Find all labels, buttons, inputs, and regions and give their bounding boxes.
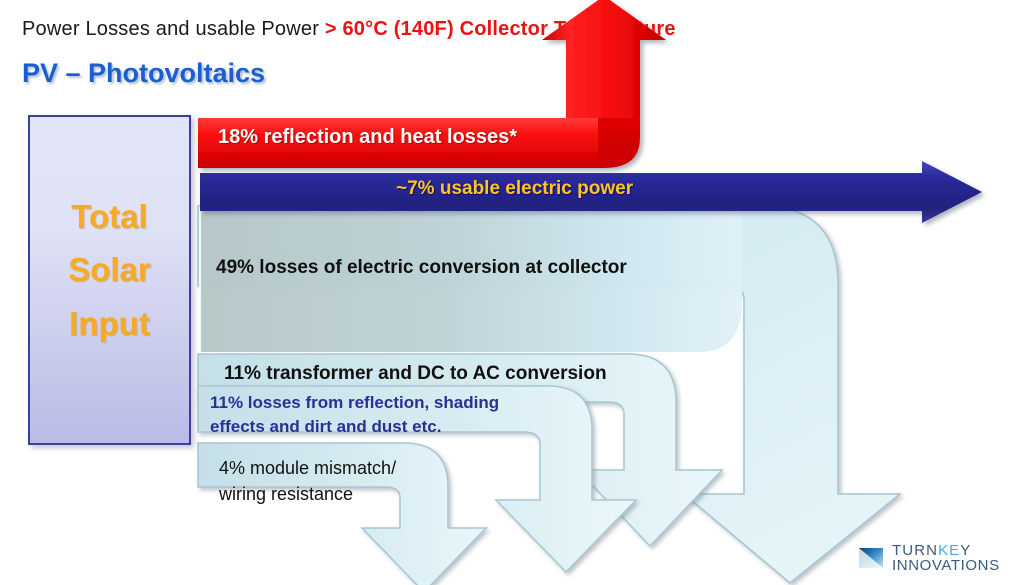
total-solar-input-line1: Total — [28, 190, 191, 243]
label-module-mismatch-line2: wiring resistance — [219, 481, 396, 507]
label-usable-electric-power: ~7% usable electric power — [396, 178, 633, 200]
logo-diamond-icon — [857, 544, 885, 572]
label-reflection-shading-line1: 11% losses from reflection, shading — [210, 391, 499, 415]
total-solar-input-line3: Input — [28, 297, 191, 350]
total-solar-input-line2: Solar — [28, 243, 191, 296]
label-reflection-shading-line2: effects and dirt and dust etc. — [210, 415, 499, 439]
label-transformer-dc-ac: 11% transformer and DC to AC conversion — [224, 363, 607, 385]
label-module-mismatch: 4% module mismatch/ wiring resistance — [219, 455, 396, 507]
logo-wordmark: TURNKEY INNOVATIONS — [892, 543, 1000, 574]
logo-line-2: INNOVATIONS — [892, 558, 1000, 573]
turnkey-innovations-logo: TURNKEY INNOVATIONS — [857, 543, 1000, 574]
logo-line-1: TURNKEY — [892, 543, 1000, 558]
slide-canvas: Power Losses and usable Power > 60°C (14… — [0, 0, 1010, 585]
band-conversion-losses — [200, 207, 742, 352]
label-reflection-shading: 11% losses from reflection, shading effe… — [210, 391, 499, 439]
total-solar-input-label: Total Solar Input — [28, 190, 191, 350]
label-module-mismatch-line1: 4% module mismatch/ — [219, 455, 396, 481]
label-reflection-heat-losses: 18% reflection and heat losses* — [218, 126, 517, 149]
label-conversion-losses: 49% losses of electric conversion at col… — [216, 257, 627, 279]
